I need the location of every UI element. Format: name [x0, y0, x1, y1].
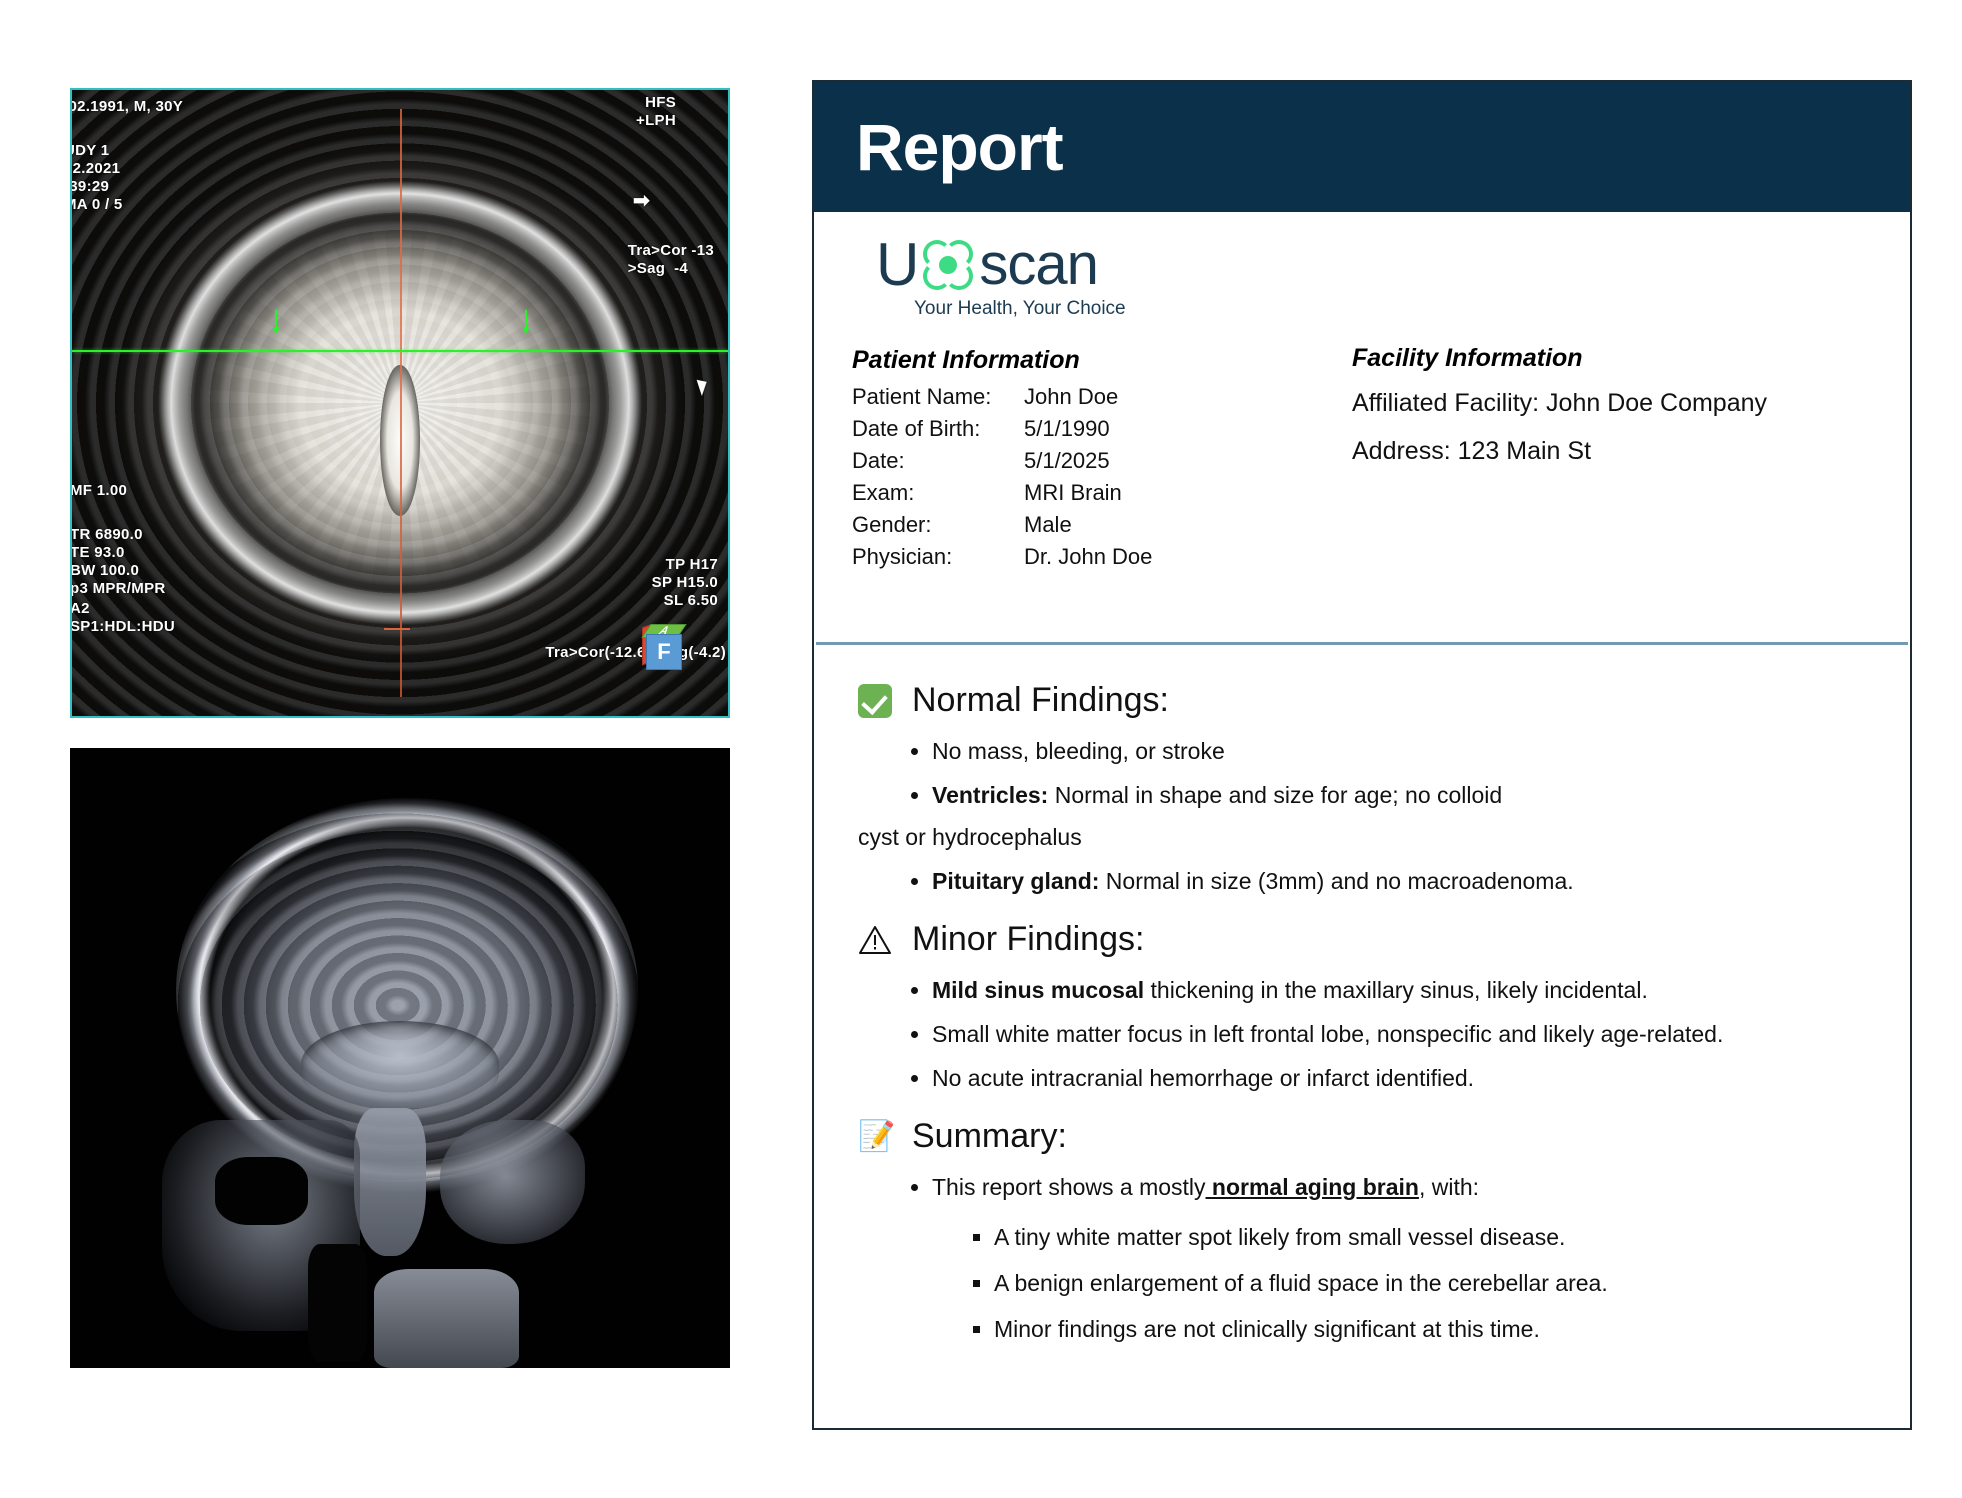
- scan-target-icon: [921, 238, 975, 292]
- overlay-plane-bottom: Tra>Cor(-12.6)>Sag(-4.2): [545, 644, 726, 662]
- cube-front-face: F: [646, 634, 682, 670]
- crosshair-tick-right: [525, 310, 527, 332]
- overlay-geometry-block: TP H17 SP H15.0 SL 6.50: [652, 556, 718, 610]
- brainstem: [354, 1108, 427, 1257]
- report-info-section: U scan Your Health, Your Choice Patient …: [814, 212, 1910, 642]
- patient-label: Date:: [852, 445, 1024, 477]
- brand-and-patient-column: U scan Your Health, Your Choice Patient …: [852, 234, 1322, 573]
- summary-lead-after: , with:: [1419, 1174, 1479, 1200]
- green-check-icon: [858, 684, 892, 718]
- summary-header: 📝 Summary:: [858, 1117, 1866, 1156]
- midline-reference-line[interactable]: [400, 109, 402, 697]
- logo-word-scan: scan: [979, 237, 1098, 293]
- finding-text: No mass, bleeding, or stroke: [932, 738, 1225, 764]
- patient-label: Physician:: [852, 541, 1024, 573]
- report-card: Report U scan Y: [812, 80, 1912, 1430]
- minor-findings-title: Minor Findings:: [912, 920, 1144, 959]
- overlay-study-block: UDY 1 02.2021 :39:29 MA 0 / 5: [70, 142, 123, 214]
- midline-tick: [384, 628, 410, 630]
- crosshair-reference-line[interactable]: [72, 350, 728, 352]
- finding-label: Ventricles:: [932, 782, 1048, 808]
- overlay-coil-block: A2 SP1:HDL:HDU: [70, 600, 175, 636]
- logo-letter-u: U: [876, 237, 917, 293]
- patient-label: Exam:: [852, 477, 1024, 509]
- patient-value: 5/1/1990: [1024, 413, 1110, 445]
- finding-text: thickening in the maxillary sinus, likel…: [1144, 977, 1648, 1003]
- facility-affiliated: Affiliated Facility: John Doe Company: [1352, 379, 1872, 427]
- axial-mri-viewport[interactable]: .02.1991, M, 30Y UDY 1 02.2021 :39:29 MA…: [70, 88, 730, 718]
- finding-text: No acute intracranial hemorrhage or infa…: [932, 1065, 1474, 1091]
- list-item: A tiny white matter spot likely from sma…: [994, 1214, 1866, 1260]
- patient-row: Physician: Dr. John Doe: [852, 541, 1322, 573]
- patient-label: Gender:: [852, 509, 1024, 541]
- normal-findings-header: Normal Findings:: [858, 681, 1866, 720]
- patient-value: Dr. John Doe: [1024, 541, 1152, 573]
- summary-lead-before: This report shows a mostly: [932, 1174, 1206, 1200]
- warning-triangle-icon: [858, 923, 892, 957]
- sinus-cavity: [215, 1157, 307, 1225]
- patient-row: Date of Birth: 5/1/1990: [852, 413, 1322, 445]
- minor-findings-header: Minor Findings:: [858, 920, 1866, 959]
- page-title: Report: [856, 109, 1063, 185]
- patient-label: Patient Name:: [852, 381, 1024, 413]
- facility-information-title: Facility Information: [1352, 344, 1872, 373]
- report-page: .02.1991, M, 30Y UDY 1 02.2021 :39:29 MA…: [0, 0, 1962, 1498]
- list-item: Small white matter focus in left frontal…: [932, 1013, 1866, 1055]
- corpus-callosum: [301, 1021, 499, 1108]
- neck-soft-tissue: [374, 1269, 519, 1368]
- patient-row: Patient Name: John Doe: [852, 381, 1322, 413]
- overlay-patient-line: .02.1991, M, 30Y: [70, 98, 183, 116]
- finding-label: Pituitary gland:: [932, 868, 1099, 894]
- patient-row: Exam: MRI Brain: [852, 477, 1322, 509]
- orientation-cube-icon[interactable]: A F: [642, 624, 688, 670]
- finding-continuation: cyst or hydrocephalus: [858, 816, 1866, 858]
- sagittal-mri-viewport[interactable]: [70, 748, 730, 1368]
- memo-pencil-icon: 📝: [858, 1120, 892, 1154]
- normal-findings-list: No mass, bleeding, or stroke Ventricles:…: [858, 730, 1866, 902]
- list-item: A benign enlargement of a fluid space in…: [994, 1260, 1866, 1306]
- patient-information-title: Patient Information: [852, 346, 1322, 375]
- normal-findings-title: Normal Findings:: [912, 681, 1169, 720]
- summary-sub-list: A tiny white matter spot likely from sma…: [932, 1214, 1866, 1352]
- airway: [308, 1244, 367, 1362]
- patient-label: Date of Birth:: [852, 413, 1024, 445]
- list-item: Pituitary gland: Normal in size (3mm) an…: [932, 860, 1866, 902]
- list-item: No acute intracranial hemorrhage or infa…: [932, 1057, 1866, 1099]
- finding-label: Mild sinus mucosal: [932, 977, 1144, 1003]
- patient-row: Gender: Male: [852, 509, 1322, 541]
- summary-list: This report shows a mostly normal aging …: [858, 1166, 1866, 1352]
- report-header: Report: [814, 82, 1910, 212]
- facility-address: Address: 123 Main St: [1352, 427, 1872, 475]
- patient-value: MRI Brain: [1024, 477, 1122, 509]
- list-item: Mild sinus mucosal thickening in the max…: [932, 969, 1866, 1011]
- list-item: Minor findings are not clinically signif…: [994, 1306, 1866, 1352]
- patient-value: Male: [1024, 509, 1072, 541]
- finding-text: Small white matter focus in left frontal…: [932, 1021, 1723, 1047]
- summary-emphasis: normal aging brain: [1206, 1174, 1419, 1200]
- crosshair-tick-left: [275, 310, 277, 332]
- brand-tagline: Your Health, Your Choice: [914, 298, 1322, 320]
- patient-value: 5/1/2025: [1024, 445, 1110, 477]
- findings-section: Normal Findings: No mass, bleeding, or s…: [814, 645, 1910, 1352]
- list-item: Ventricles: Normal in shape and size for…: [932, 774, 1866, 858]
- imaging-column: .02.1991, M, 30Y UDY 1 02.2021 :39:29 MA…: [0, 0, 810, 1498]
- patient-row: Date: 5/1/2025: [852, 445, 1322, 477]
- brand-logo: U scan: [876, 234, 1322, 296]
- overlay-arrow-icon: ➡: [633, 192, 650, 210]
- finding-text: Normal in shape and size for age; no col…: [1048, 782, 1502, 808]
- patient-value: John Doe: [1024, 381, 1118, 413]
- overlay-mf: MF 1.00: [70, 482, 127, 500]
- overlay-tech-block: TR 6890.0 TE 93.0 BW 100.0 p3 MPR/MPR: [70, 526, 166, 598]
- list-item: This report shows a mostly normal aging …: [932, 1166, 1866, 1352]
- overlay-orientation-top: HFS +LPH: [636, 94, 676, 130]
- minor-findings-list: Mild sinus mucosal thickening in the max…: [858, 969, 1866, 1099]
- overlay-plane-top-right: Tra>Cor -13 >Sag -4: [628, 242, 714, 278]
- cerebellum: [440, 1120, 585, 1244]
- list-item: No mass, bleeding, or stroke: [932, 730, 1866, 772]
- summary-title: Summary:: [912, 1117, 1067, 1156]
- finding-text: Normal in size (3mm) and no macroadenoma…: [1099, 868, 1573, 894]
- facility-column: Facility Information Affiliated Facility…: [1352, 234, 1872, 573]
